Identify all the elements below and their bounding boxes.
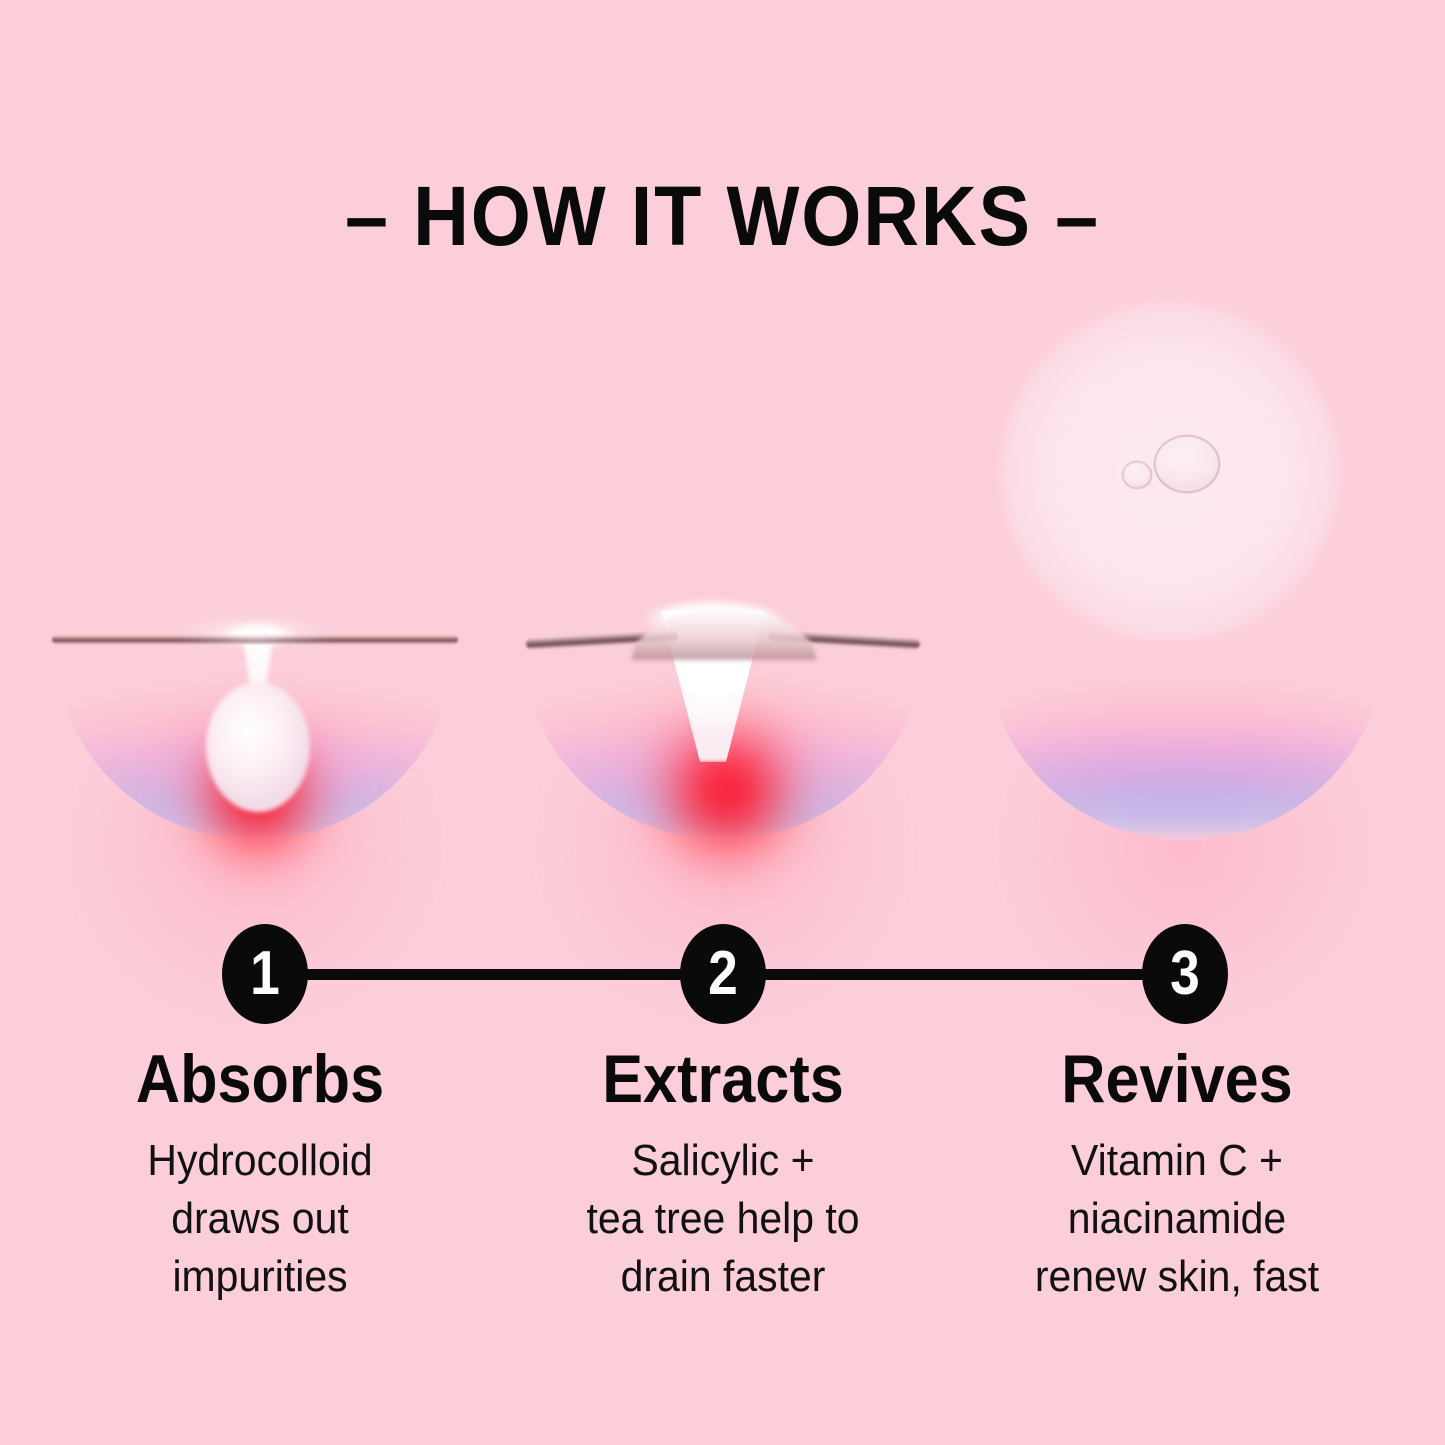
gunk-big-bubble [1154, 435, 1220, 493]
step-3-desc-line-1: Vitamin C + [982, 1132, 1373, 1190]
how-it-works-infographic: – HOW IT WORKS – [0, 0, 1445, 1445]
gunk-small-bubble [1122, 461, 1152, 489]
drop-head [206, 682, 310, 812]
step-2: Extracts Salicylic + tea tree help to dr… [513, 1040, 933, 1306]
patch-gloss [172, 615, 338, 649]
trapped-gunk-icon [1122, 435, 1220, 495]
step-1: Absorbs Hydrocolloid draws out impuritie… [50, 1040, 470, 1306]
step-1-desc-line-2: draws out [65, 1190, 456, 1248]
step-3-desc-line-3: renew skin, fast [982, 1248, 1373, 1306]
illustration-row [0, 280, 1445, 880]
hydrocolloid-patch-lifted-icon [520, 616, 926, 656]
patch-dome [632, 608, 816, 660]
step-3: Revives Vitamin C + niacinamide renew sk… [967, 1040, 1387, 1306]
step-2-heading: Extracts [534, 1040, 912, 1118]
step-3-description: Vitamin C + niacinamide renew skin, fast [982, 1132, 1373, 1306]
step-3-desc-line-2: niacinamide [982, 1190, 1373, 1248]
step-1-desc-line-1: Hydrocolloid [65, 1132, 456, 1190]
step-1-desc-line-3: impurities [65, 1248, 456, 1306]
step-1-description: Hydrocolloid draws out impurities [65, 1132, 456, 1306]
step-number-badge-2: 2 [680, 924, 766, 1024]
illustration-patch-extracting [508, 280, 938, 880]
step-2-description: Salicylic + tea tree help to drain faste… [528, 1132, 919, 1306]
step-timeline: 1 2 3 [0, 924, 1445, 1028]
step-3-heading: Revives [988, 1040, 1366, 1118]
step-1-heading: Absorbs [71, 1040, 449, 1118]
step-number-badge-1: 1 [222, 924, 308, 1024]
page-title: – HOW IT WORKS – [58, 168, 1387, 264]
step-2-desc-line-1: Salicylic + [528, 1132, 919, 1190]
step-number-badge-3: 3 [1142, 924, 1228, 1024]
illustration-patch-removed [970, 280, 1400, 880]
pimple-drop-icon [200, 632, 316, 822]
step-2-desc-line-3: drain faster [528, 1248, 919, 1306]
step-captions: Absorbs Hydrocolloid draws out impuritie… [0, 1040, 1445, 1340]
step-2-desc-line-2: tea tree help to [528, 1190, 919, 1248]
hydrocolloid-patch-flat-icon [52, 629, 458, 649]
illustration-patch-applied [40, 280, 470, 880]
